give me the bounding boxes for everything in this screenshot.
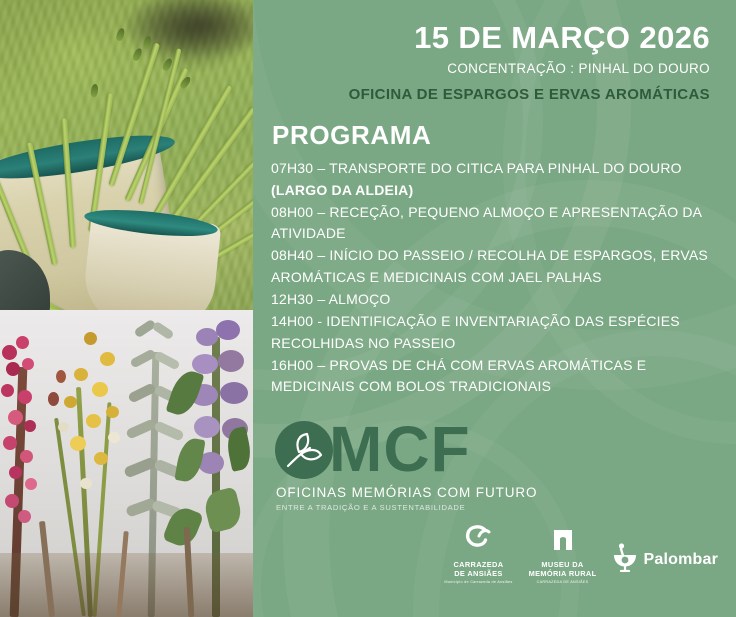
asparagus-harvest-photo [0, 0, 253, 310]
berry [8, 410, 23, 425]
grey-leaf [153, 420, 184, 441]
berry [3, 436, 17, 450]
berry [9, 466, 22, 479]
berry [16, 336, 29, 349]
workshop-title: OFICINA DE ESPARGOS E ERVAS AROMÁTICAS [271, 86, 710, 104]
berry [1, 384, 14, 397]
meeting-point: CONCENTRAÇÃO : PINHAL DO DOURO [271, 61, 710, 78]
museum-building-icon [550, 526, 576, 557]
berry [22, 358, 34, 370]
omcf-logo: MCF OFICINAS MEMÓRIAS COM FUTURO ENTRE A… [273, 417, 523, 515]
partner-palombar: Palombar [612, 542, 718, 577]
partner-name-line2: DE ANSIÃES [454, 569, 502, 578]
yellow-flower [86, 414, 101, 428]
poster-header: 15 DE MARÇO 2026 CONCENTRAÇÃO : PINHAL D… [271, 0, 720, 104]
green-leaf [166, 367, 205, 419]
purple-flower [216, 320, 240, 340]
herb-bundle-base [0, 553, 253, 617]
berry [18, 390, 32, 404]
yellow-flower [92, 382, 108, 397]
partner-name-line2: MEMÓRIA RURAL [529, 569, 597, 578]
omcf-full-name: OFICINAS MEMÓRIAS COM FUTURO [276, 485, 537, 500]
partner-name-line1: MUSEU DA [541, 560, 583, 569]
yellow-flower [106, 406, 119, 418]
green-leaf [202, 486, 245, 533]
program-list: 07H30 – TRANSPORTE DO CITICA PARA PINHAL… [271, 158, 720, 397]
partner-name: CARRAZEDA DE ANSIÃES [453, 560, 503, 578]
omcf-letters: MCF [329, 417, 471, 481]
partner-carrazeda-de-ansiaes: CARRAZEDA DE ANSIÃES Município de Carraz… [444, 524, 512, 585]
partner-subtitle: Município de Carrazeda de Ansiães [444, 580, 512, 585]
yellow-flower [94, 452, 108, 465]
palombar-wordmark: Palombar [643, 551, 718, 569]
purple-flower [192, 354, 218, 374]
berry [20, 450, 33, 463]
dried-herbs-photo [0, 310, 253, 617]
omcf-acronym-letters: MCF [329, 413, 471, 485]
white-flower [58, 422, 69, 432]
purple-flower [194, 416, 220, 438]
berry [25, 478, 37, 490]
content-panel: 15 DE MARÇO 2026 CONCENTRAÇÃO : PINHAL D… [253, 0, 736, 617]
berry [6, 362, 20, 376]
yellow-flower [64, 396, 77, 408]
partner-museu-da-memoria-rural: MUSEU DA MEMÓRIA RURAL CARRAZEDA DE ANSI… [529, 526, 597, 585]
program-heading: PROGRAMA [272, 122, 720, 148]
program-item: 08H00 – RECEÇÃO, PEQUENO ALMOÇO E APRESE… [271, 202, 720, 245]
program-item: 16H00 – PROVAS DE CHÁ COM ERVAS AROMÁTIC… [271, 355, 720, 398]
program-item: 07H30 – TRANSPORTE DO CITICA PARA PINHAL… [271, 158, 720, 201]
purple-flower [218, 350, 244, 372]
partner-logos: CARRAZEDA DE ANSIÃES Município de Carraz… [444, 524, 718, 585]
berry [5, 494, 19, 508]
omcf-tagline: ENTRE A TRADIÇÃO E A SUSTENTABILIDADE [276, 503, 465, 512]
white-flower [108, 432, 120, 443]
berry [24, 420, 36, 432]
yellow-flower [84, 332, 97, 345]
purple-flower [220, 382, 248, 404]
partner-name: MUSEU DA MEMÓRIA RURAL [529, 560, 597, 578]
white-flower [80, 478, 92, 489]
partner-name-line1: CARRAZEDA [453, 560, 503, 569]
berry [2, 345, 17, 360]
green-leaf [174, 436, 205, 483]
dove-icon [612, 542, 638, 577]
leaf-icon [283, 429, 325, 471]
yellow-flower [74, 368, 88, 381]
event-poster: 15 DE MARÇO 2026 CONCENTRAÇÃO : PINHAL D… [0, 0, 736, 617]
photo-column [0, 0, 253, 617]
yellow-flower [100, 352, 115, 366]
berry [48, 392, 59, 406]
event-date: 15 DE MARÇO 2026 [271, 22, 710, 55]
program-item: 08H40 – INÍCIO DO PASSEIO / RECOLHA DE E… [271, 245, 720, 288]
program-item: 12H30 – ALMOÇO [271, 289, 720, 310]
berry [18, 510, 31, 523]
carrazeda-c-icon [461, 524, 495, 557]
grey-leaf [151, 321, 174, 341]
partner-subtitle: CARRAZEDA DE ANSIÃES [537, 580, 589, 585]
berry [56, 370, 66, 383]
purple-flower [196, 328, 218, 346]
program-item: 14H00 - IDENTIFICAÇÃO E INVENTARIAÇÃO DA… [271, 311, 720, 354]
yellow-flower [70, 436, 86, 451]
program-item-emphasis: (LARGO DA ALDEIA) [271, 182, 413, 198]
program-item-text: 07H30 – TRANSPORTE DO CITICA PARA PINHAL… [271, 160, 682, 176]
